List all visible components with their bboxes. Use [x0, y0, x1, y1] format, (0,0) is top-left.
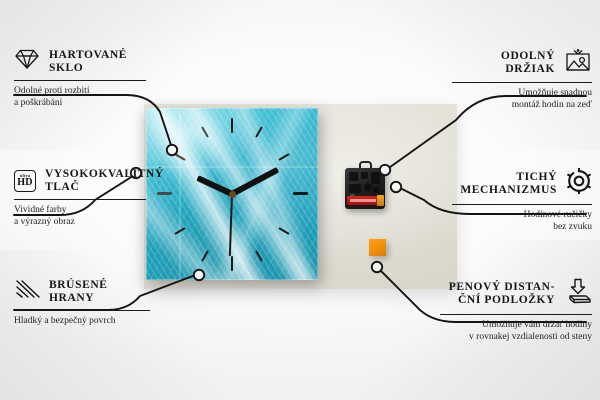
feature-header-silent-mechanism: TICHÝMECHANIZMUS [452, 168, 592, 199]
diamond-icon [14, 48, 40, 75]
feature-header-durable-holder: ODOLNÝDRŽIAK [452, 48, 592, 77]
feature-divider [14, 310, 150, 311]
connector-dot-foam [372, 262, 382, 272]
feature-title-hq-print: VYSOKOKVALITNÝTLAČ [45, 168, 164, 194]
feature-divider [14, 199, 146, 200]
feature-divider [440, 314, 592, 315]
feature-title-foam-spacers: PENOVÝ DISTAN-ČNÍ PODLOŽKY [449, 281, 555, 307]
feature-divider [452, 82, 592, 83]
feature-header-hq-print: ultra HD VYSOKOKVALITNÝTLAČ [14, 168, 146, 194]
feature-desc-hq-print: Vividné farbya výrazný obraz [14, 205, 146, 228]
picture-hanger-icon [564, 48, 592, 77]
feature-block-hq-print: ultra HD VYSOKOKVALITNÝTLAČ Vividné farb… [14, 168, 146, 228]
feature-desc-tempered-glass: Odolné proti rozbitía poškrábání [14, 86, 146, 109]
feature-desc-foam-spacers: Umožňuje vám držať hodinyv rovnakej vzdi… [440, 320, 592, 343]
feature-title-durable-holder: ODOLNÝDRŽIAK [501, 50, 555, 76]
feature-divider [452, 204, 592, 205]
feature-block-silent-mechanism: TICHÝMECHANIZMUS Hodinové ručičkybez zvu… [452, 168, 592, 233]
connector-dot-mechanism [391, 182, 401, 192]
feature-block-foam-spacers: PENOVÝ DISTAN-ČNÍ PODLOŽKY Umožňuje vám … [440, 278, 592, 343]
ultra-hd-icon-main-label: HD [17, 178, 33, 188]
foam-pad-arrow-icon [564, 278, 592, 309]
gear-icon [566, 168, 592, 199]
feature-header-ground-edges: BRÚSENÉHRANY [14, 278, 150, 305]
feature-header-foam-spacers: PENOVÝ DISTAN-ČNÍ PODLOŽKY [440, 278, 592, 309]
feature-title-silent-mechanism: TICHÝMECHANIZMUS [460, 171, 557, 197]
feature-header-tempered-glass: HARTOVANÉSKLO [14, 48, 146, 75]
feature-title-ground-edges: BRÚSENÉHRANY [49, 279, 108, 305]
feature-desc-silent-mechanism: Hodinové ručičkybez zvuku [452, 210, 592, 233]
infographic-canvas: HARTOVANÉSKLO Odolné proti rozbitía pošk… [0, 0, 600, 400]
feature-title-tempered-glass: HARTOVANÉSKLO [49, 49, 127, 75]
connector-dot-edges [194, 270, 204, 280]
ground-edges-icon [14, 278, 40, 305]
feature-block-ground-edges: BRÚSENÉHRANY Hladký a bezpečný povrch [14, 278, 150, 328]
feature-desc-ground-edges: Hladký a bezpečný povrch [14, 316, 150, 328]
connector-dot-glass [167, 145, 177, 155]
connector-dot-holder [380, 165, 390, 175]
feature-divider [14, 80, 146, 81]
feature-block-durable-holder: ODOLNÝDRŽIAK Umožňuje snadnoumontáž hodi… [452, 48, 592, 111]
feature-desc-durable-holder: Umožňuje snadnoumontáž hodin na zeď [452, 88, 592, 111]
ultra-hd-icon: ultra HD [14, 170, 36, 192]
feature-block-tempered-glass: HARTOVANÉSKLO Odolné proti rozbitía pošk… [14, 48, 146, 109]
